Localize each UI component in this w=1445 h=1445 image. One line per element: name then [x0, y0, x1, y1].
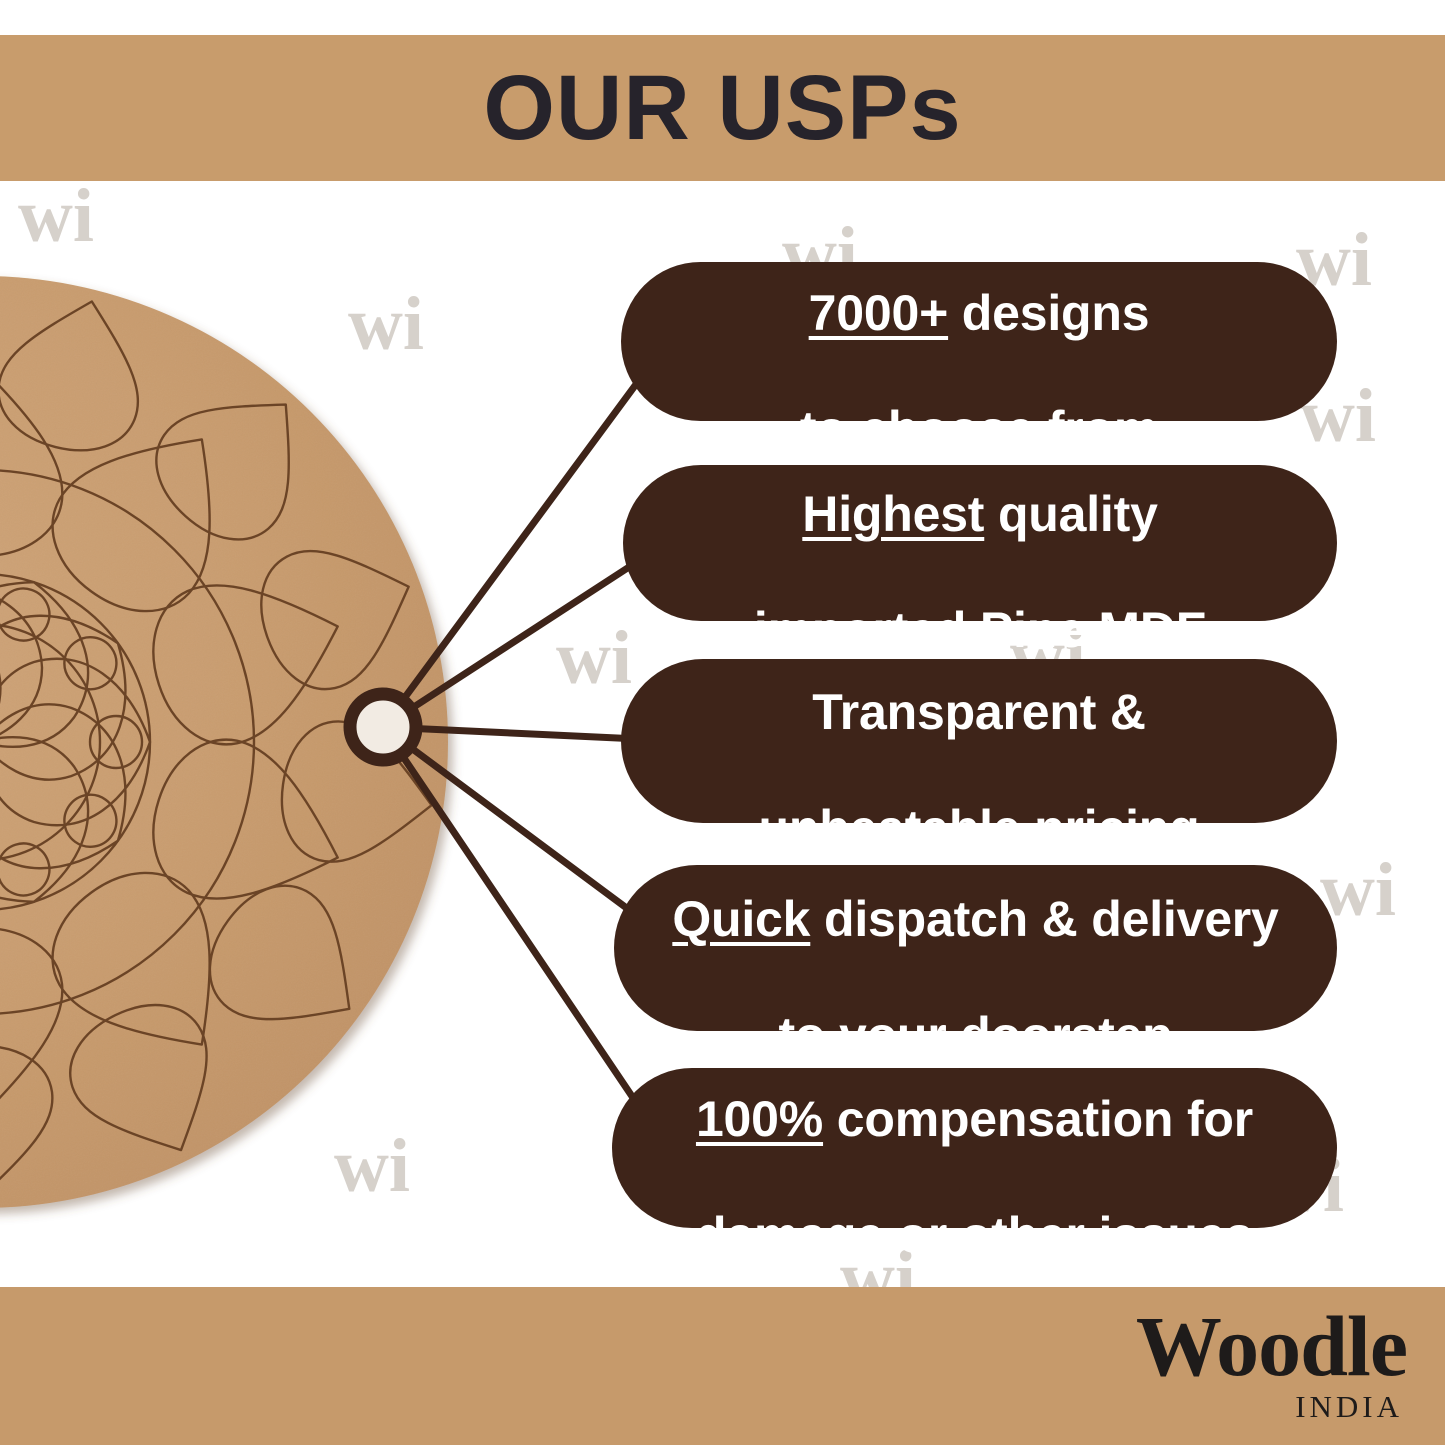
footer-band: Woodle INDIA — [0, 1287, 1445, 1445]
usp-compensation-line1-rest: compensation for — [823, 1091, 1253, 1147]
usp-designs-line1-rest: designs — [948, 285, 1149, 341]
usp-list: 7000+ designs to choose from Highest qua… — [0, 0, 1445, 1445]
usp-pill-dispatch-text: Quick dispatch & delivery to your doorst… — [672, 832, 1278, 1064]
usp-pricing-line1: Transparent & — [812, 684, 1146, 740]
usp-quality-highlight: Highest — [802, 486, 984, 542]
usp-pill-dispatch[interactable]: Quick dispatch & delivery to your doorst… — [614, 865, 1337, 1031]
usp-dispatch-line1-rest: dispatch & delivery — [810, 891, 1278, 947]
usp-pill-pricing[interactable]: Transparent & unbeatable pricing — [621, 659, 1337, 823]
usp-pill-quality[interactable]: Highest quality imported Pine MDF — [623, 465, 1337, 621]
brand-logo-subtitle: INDIA — [1136, 1391, 1403, 1422]
usp-dispatch-highlight: Quick — [672, 891, 810, 947]
usp-pill-pricing-text: Transparent & unbeatable pricing — [759, 625, 1200, 857]
page-title: OUR USPs — [483, 62, 961, 154]
usp-pill-compensation-text: 100% compensation for damage or other is… — [696, 1032, 1253, 1264]
usp-compensation-highlight: 100% — [696, 1091, 823, 1147]
usp-pill-compensation[interactable]: 100% compensation for damage or other is… — [612, 1068, 1337, 1228]
usp-infographic: wi wi wi wi wi wi wi wi wi wi wi — [0, 0, 1445, 1445]
usp-quality-line1-rest: quality — [984, 486, 1157, 542]
usp-pill-designs[interactable]: 7000+ designs to choose from — [621, 262, 1337, 421]
header-band: OUR USPs — [0, 35, 1445, 181]
brand-logo-wordmark: Woodle — [1136, 1303, 1407, 1389]
usp-compensation-line2: damage or other issues — [696, 1207, 1253, 1263]
brand-logo: Woodle INDIA — [1136, 1303, 1407, 1422]
usp-pill-designs-text: 7000+ designs to choose from — [800, 226, 1158, 458]
usp-designs-highlight: 7000+ — [809, 285, 948, 341]
